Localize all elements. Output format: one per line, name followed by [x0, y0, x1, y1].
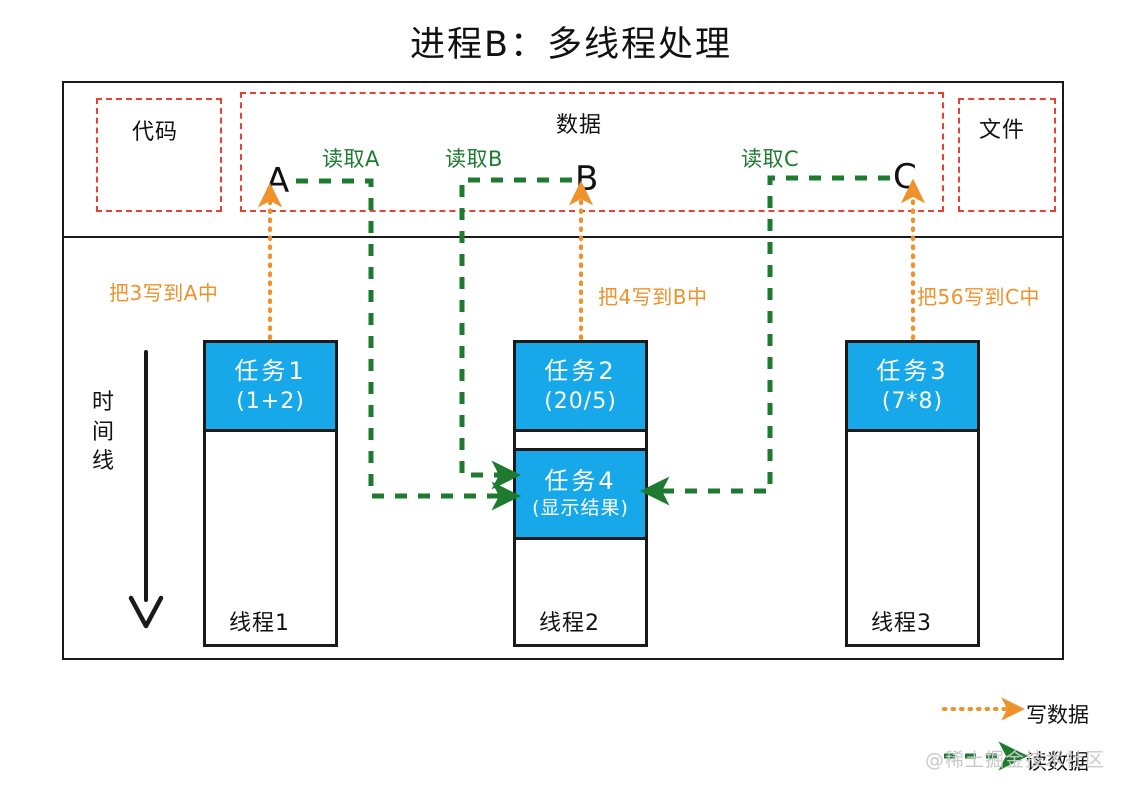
variable-b: B	[575, 162, 598, 196]
read-label-a: 读取A	[322, 143, 380, 173]
file-region-label: 文件	[979, 112, 1025, 144]
page-title: 进程B：多线程处理	[0, 16, 1142, 67]
thread-label-2: 线程2	[539, 605, 600, 637]
read-label-b: 读取B	[445, 143, 503, 173]
task-4-expr: (显示结果)	[532, 498, 629, 520]
task-3-expr: (7*8)	[882, 389, 943, 414]
task-2-name: 任务2	[544, 358, 616, 386]
thread-label-1: 线程1	[229, 605, 290, 637]
code-region-label: 代码	[132, 114, 178, 146]
memory-thread-divider	[62, 236, 1064, 238]
read-label-c: 读取C	[741, 143, 799, 173]
task-4-name: 任务4	[544, 468, 616, 496]
write-label-a: 把3写到A中	[109, 277, 218, 306]
task-block-4: 任务4 (显示结果)	[513, 448, 648, 540]
timeline-label: 时间线	[88, 388, 118, 477]
task-1-name: 任务1	[234, 358, 306, 386]
task-2-expr: (20/5)	[544, 389, 617, 414]
task-1-expr: (1+2)	[236, 389, 305, 414]
write-label-c: 把56写到C中	[917, 281, 1040, 310]
thread-label-3: 线程3	[871, 605, 932, 637]
data-region-label: 数据	[556, 107, 602, 139]
variable-c: C	[893, 160, 917, 194]
diagram-canvas: 进程B：多线程处理 代码 数据 文件 A B C 读取A 读取B 读取C 把3写…	[0, 0, 1142, 789]
task-3-name: 任务3	[876, 358, 948, 386]
write-label-b: 把4写到B中	[598, 281, 707, 310]
watermark: @稀土掘金技术社区	[925, 745, 1105, 772]
legend-write-label: 写数据	[1026, 699, 1089, 729]
task-block-1: 任务1 (1+2)	[203, 340, 338, 432]
task-block-2: 任务2 (20/5)	[513, 340, 648, 432]
variable-a: A	[266, 164, 289, 198]
task-block-3: 任务3 (7*8)	[845, 340, 980, 432]
